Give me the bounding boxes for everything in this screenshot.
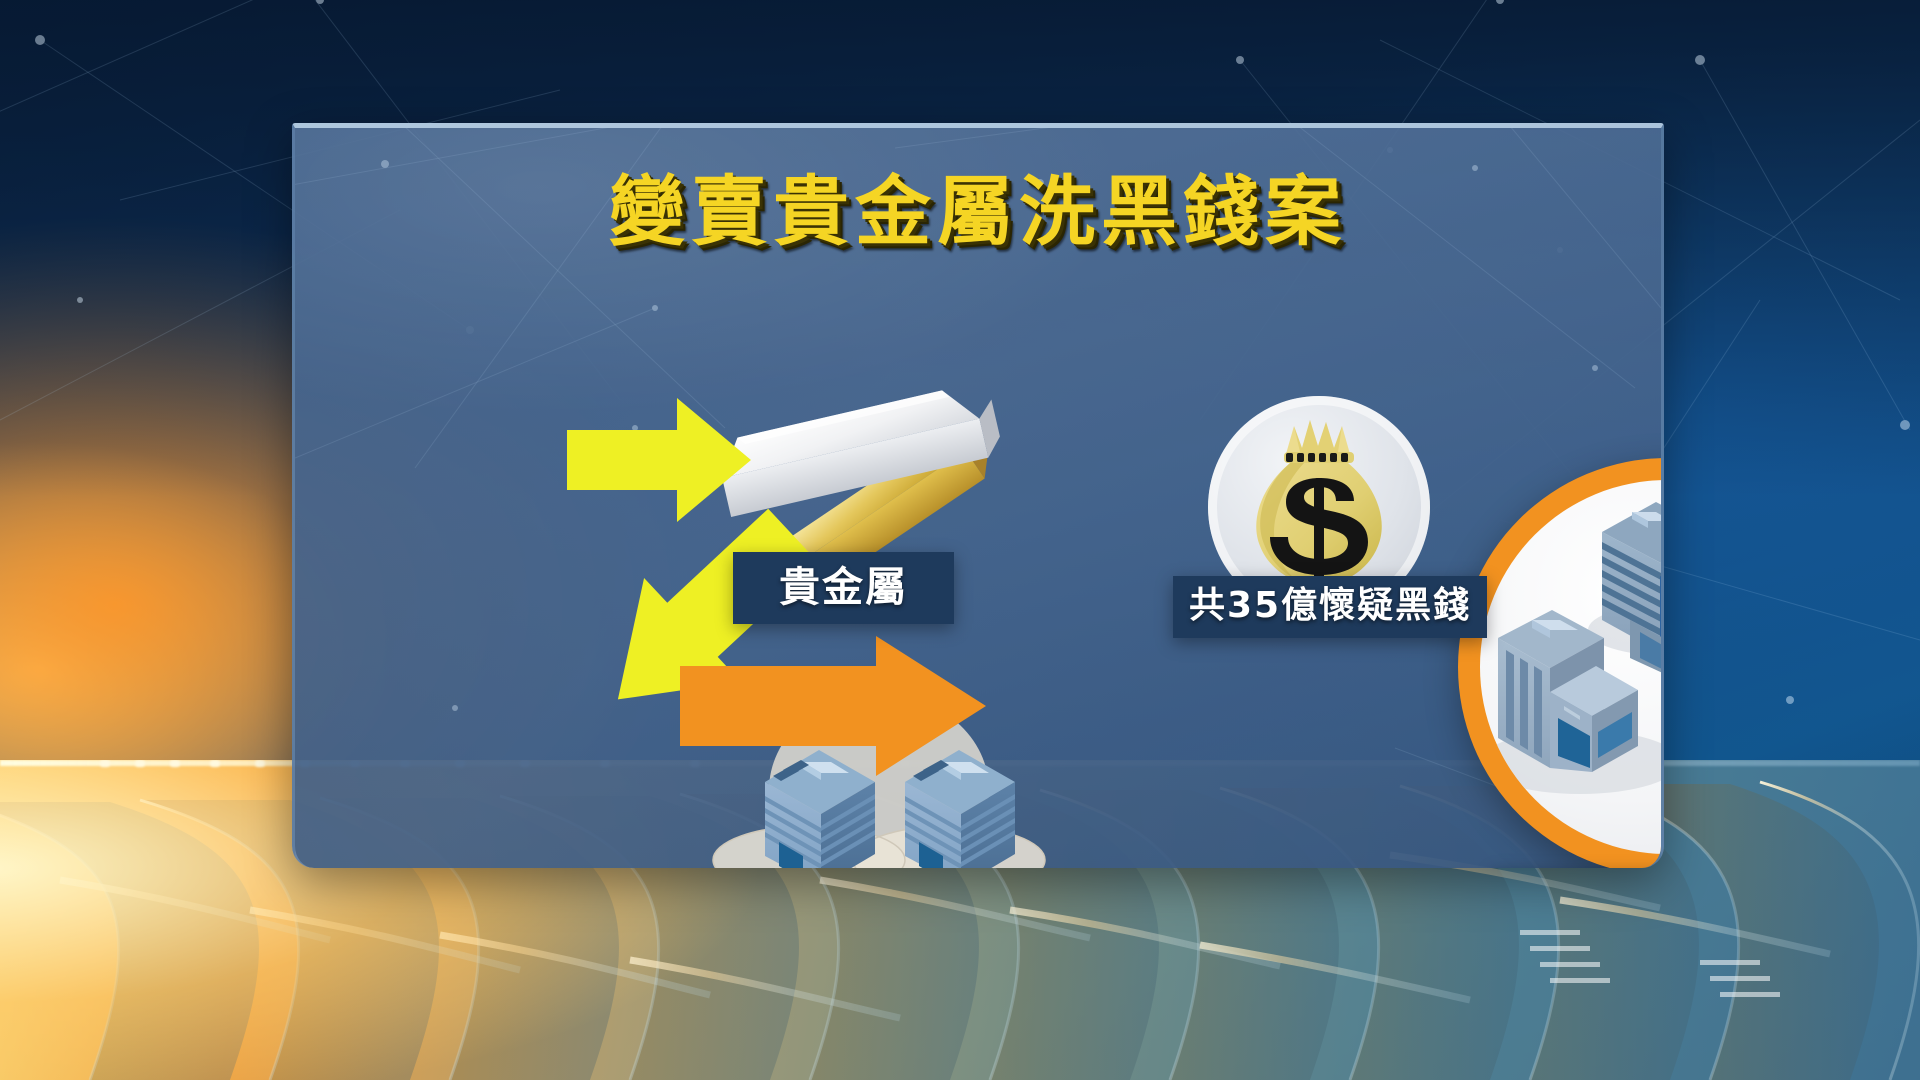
shell-companies-node [1458,458,1664,868]
label-precious-metals: 貴金屬 [733,552,954,624]
graphic-title: 變賣貴金屬洗黑錢案 [295,150,1661,260]
label-dirty-money-amount: 共35億懷疑黑錢 [1173,576,1487,638]
infographic-panel: 變賣貴金屬洗黑錢案 [292,123,1664,868]
broadcast-graphic-stage: 變賣貴金屬洗黑錢案 [0,0,1920,1080]
flow-arrow-accounts-to-shells [680,636,986,776]
shell-companies-circle-inner [1480,480,1664,854]
buildings-and-china-map-icon [1480,480,1664,854]
